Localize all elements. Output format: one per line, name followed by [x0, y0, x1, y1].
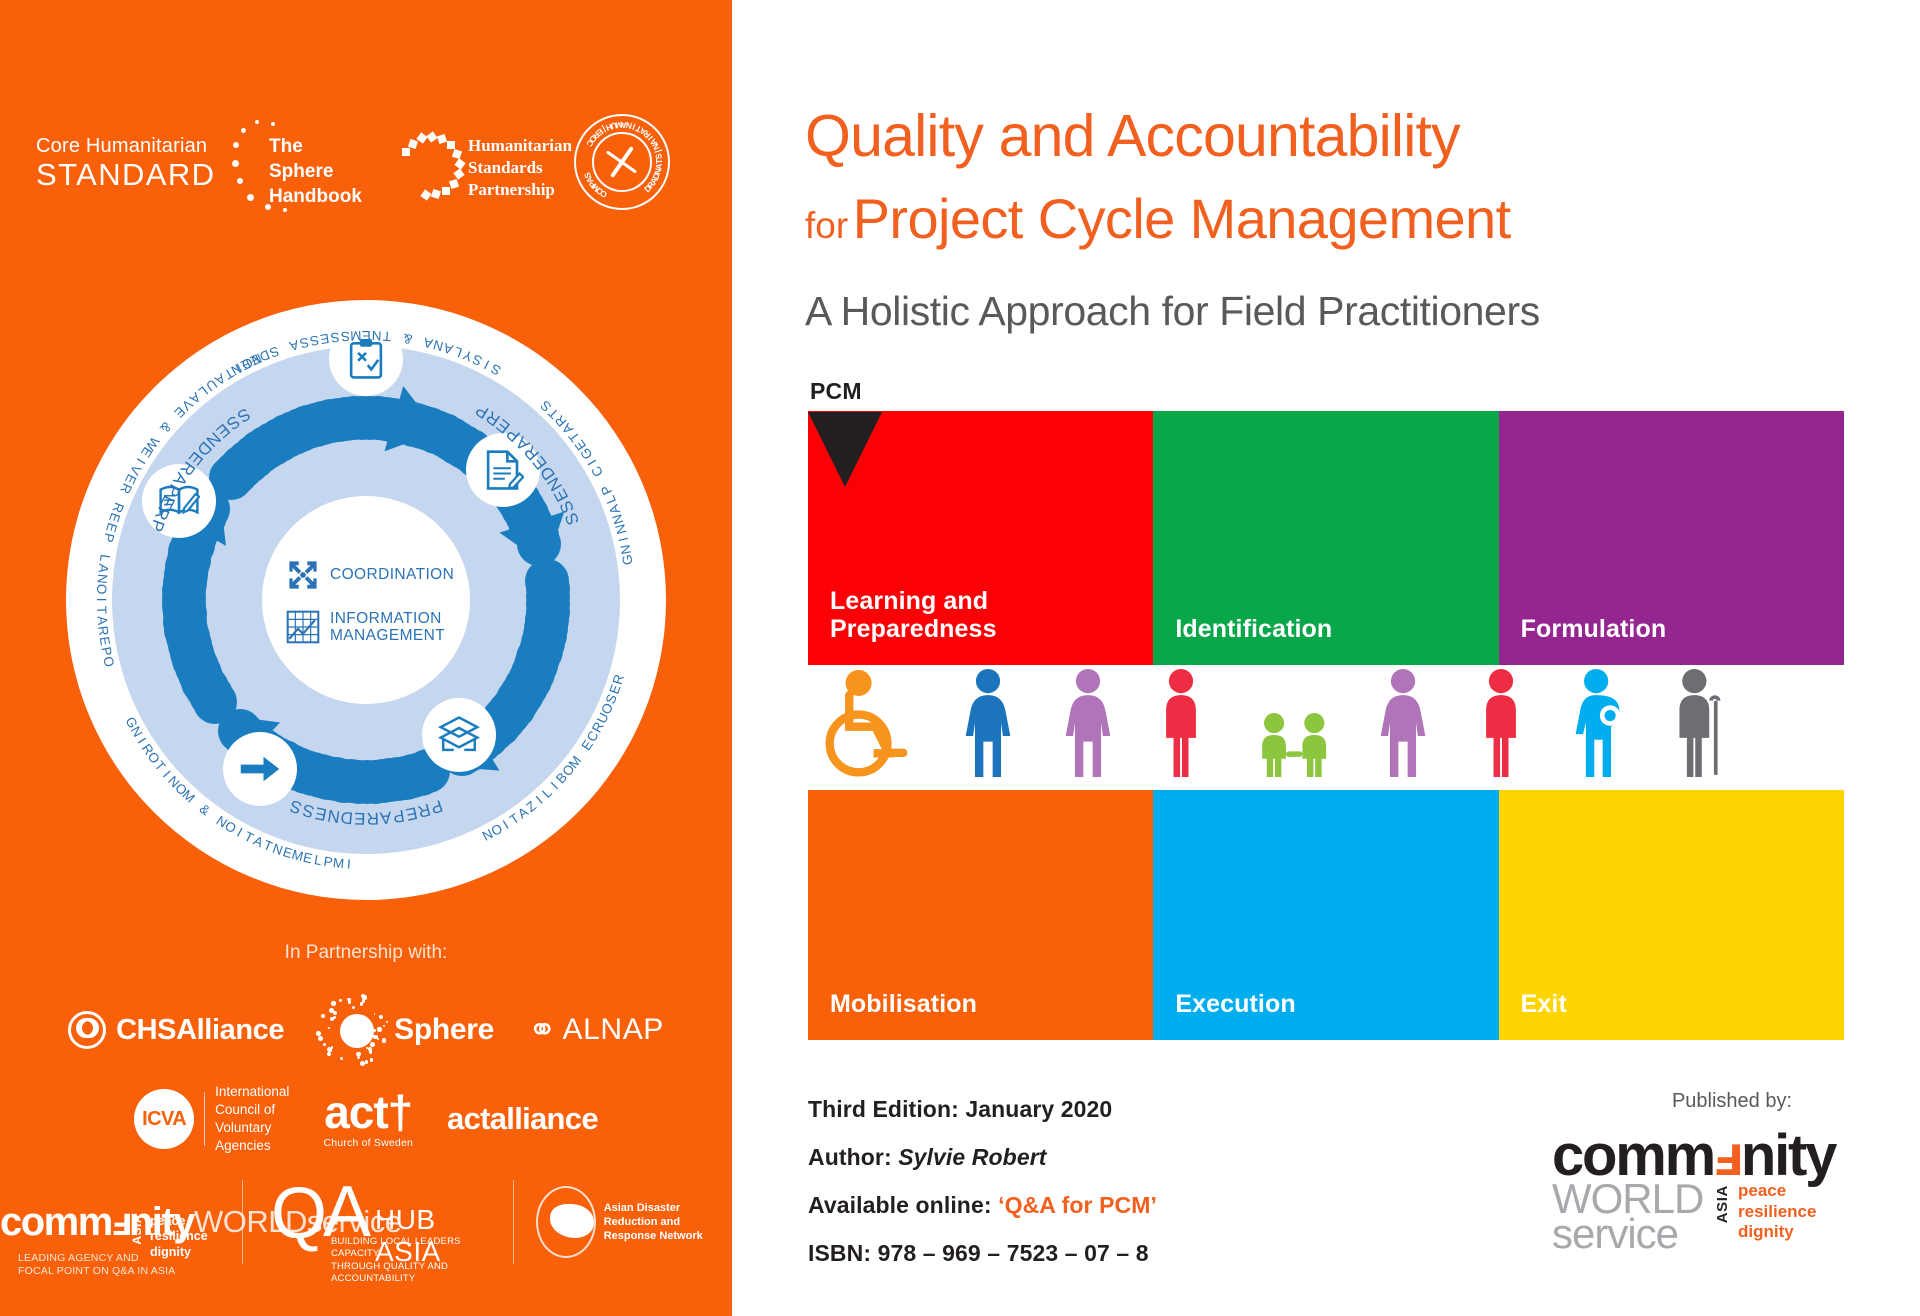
hsp-square [449, 179, 459, 189]
project-cycle-diagram: COORDINATION INFORMATIONMANAGEMENT [66, 300, 666, 900]
sphere-halftone-dot [348, 1000, 352, 1004]
sphere-halftone-dot [374, 1013, 376, 1015]
published-by-label: Published by: [1552, 1090, 1912, 1113]
sphere-halftone-dot [316, 1031, 321, 1036]
hsp-square [431, 189, 441, 199]
left-orange-panel: Core Humanitarian STANDARD The Sphere Ha… [0, 0, 732, 1316]
adrrn-globe-icon [536, 1186, 596, 1258]
sphere-halftone-dot [373, 1029, 376, 1032]
actalliance-logo: actalliance [447, 1101, 598, 1137]
sphere-halftone-dot [373, 1035, 377, 1039]
ring-label-char [394, 330, 400, 345]
compas-logo: CORE|HUMANITARIAN|STANDARDCOMPAS [574, 114, 670, 210]
ring-label-char: R [366, 808, 379, 828]
chsalliance-label: CHSAlliance [116, 1014, 284, 1047]
publisher-line3: service [1552, 1216, 1912, 1252]
chs-line2: STANDARD [36, 159, 215, 190]
sphere-dot [247, 194, 254, 201]
hsp-square [442, 187, 450, 195]
cover-page: Core Humanitarian STANDARD The Sphere Ha… [0, 0, 1920, 1316]
publisher-asia-label: ASIA [1714, 1185, 1731, 1223]
pcm-cell-identification[interactable]: Identification [1153, 411, 1498, 665]
pcm-cell-label: Learning andPreparedness [830, 587, 997, 643]
sphere-halftone-icon [318, 996, 386, 1064]
pcm-bottom-row: MobilisationExecutionExit [808, 790, 1844, 1040]
pcm-cell-label: Mobilisation [830, 990, 977, 1018]
cws-footnote: LEADING AGENCY ANDFOCAL POINT ON Q&A IN … [18, 1252, 176, 1278]
ring-label-char: A [95, 563, 111, 574]
sphere-halftone-dot [352, 1006, 355, 1009]
alnap-mark-icon: ⚭ [528, 1010, 557, 1050]
icva-divider [204, 1092, 205, 1146]
sphere-halftone-dot [321, 1014, 325, 1018]
sphere-halftone-dot [356, 1052, 360, 1056]
sphere-line1: The [269, 134, 362, 159]
qa-q-letter: Q [271, 1178, 327, 1250]
icva-label: InternationalCouncil ofVoluntaryAgencies [215, 1083, 289, 1154]
sphere-halftone-dot [360, 1002, 363, 1005]
pcm-cell-execution[interactable]: Execution [1153, 790, 1498, 1040]
online-label: Available online: [808, 1192, 998, 1218]
ring-label-char: O [94, 584, 109, 596]
ring-label-char: & [402, 331, 414, 347]
partner-row-2: ICVA InternationalCouncil ofVoluntaryAge… [0, 1080, 732, 1158]
hsp-square [416, 133, 427, 144]
partner-row-3: commⅎnity WORLD service ASIA peaceresili… [0, 1172, 732, 1272]
sphere-halftone-dot [323, 1043, 326, 1046]
sphere-halftone-dot [333, 1016, 336, 1019]
pcm-cell-label: Exit [1521, 990, 1567, 1018]
adrrn-label: Asian Disaster Reduction andResponse Net… [604, 1201, 732, 1244]
act-church-of-sweden-logo: act† Church of Sweden [323, 1089, 413, 1149]
chsalliance-logo: CHSAlliance [68, 1011, 284, 1049]
ring-label-char [280, 341, 289, 357]
ring-label-char: D [339, 807, 354, 828]
hsp-line1: Humanitarian [468, 135, 572, 157]
ring-label-char: S [488, 361, 504, 379]
wheelchair-user-icon [818, 669, 914, 782]
ring-label-char: E [353, 808, 365, 828]
sphere-halftone-dot [328, 1027, 330, 1029]
ring-label-char: L [97, 553, 113, 563]
title-for-word: for [805, 205, 848, 246]
sphere-dot [241, 128, 246, 133]
pcm-cell-label: Identification [1175, 615, 1332, 643]
woman-icon [1373, 669, 1433, 782]
hsp-square [408, 138, 418, 148]
sphere-halftone-dot [327, 1052, 331, 1056]
ring-label-char: I [616, 535, 632, 543]
sphere-halftone-dot [386, 1021, 389, 1024]
page-title-line1: Quality and Accountability [805, 105, 1865, 169]
publisher-block: Published by: commⅎnity WORLD service AS… [1552, 1090, 1912, 1245]
act-sublabel: Church of Sweden [323, 1137, 413, 1149]
page-subtitle: A Holistic Approach for Field Practition… [805, 288, 1865, 335]
compas-circular-text: CORE|HUMANITARIAN|STANDARDCOMPAS [574, 114, 670, 210]
sphere-halftone-dot [365, 1060, 369, 1064]
beneficiary-people-row [808, 670, 1844, 782]
woman-icon [1058, 669, 1118, 782]
chsalliance-mark-icon [68, 1011, 106, 1049]
qa-tagline: BUILDING LOCAL LEADERS CAPACITYTHROUGH Q… [331, 1236, 491, 1285]
hsp-text: Humanitarian Standards Partnership [468, 135, 572, 201]
page-title-line2: for Project Cycle Management [805, 190, 1865, 249]
online-link[interactable]: ‘Q&A for PCM’ [998, 1192, 1157, 1218]
ring-label-char: G [619, 553, 635, 566]
ring-label-char: A [379, 807, 393, 828]
ring-label-char: R [95, 625, 111, 637]
right-content-panel: Quality and Accountability for Project C… [732, 0, 1920, 1316]
sphere-dot [271, 122, 275, 126]
pcm-caret-icon [808, 412, 882, 487]
sphere-handbook-logo: The Sphere Handbook [225, 118, 385, 214]
sphere-halftone-dot [382, 1038, 386, 1042]
qa-hub-asia-logo: Q A HUB ASIA BUILDING LOCAL LEADERS CAPA… [265, 1174, 491, 1270]
children-icon [1248, 713, 1344, 782]
ring-label-char: S [329, 329, 340, 345]
sphere-halftone-dot [363, 995, 368, 1000]
pcm-cell-exit[interactable]: Exit [1499, 790, 1844, 1040]
ring-label-char: N [371, 328, 382, 343]
ring-label-char [414, 333, 421, 349]
publisher-line1: commⅎnity [1552, 1129, 1912, 1182]
pregnant-woman-icon [1568, 669, 1628, 782]
sphere-halftone-dot [377, 1038, 379, 1040]
pcm-cell-label: Execution [1175, 990, 1295, 1018]
hsp-line3: Partnership [468, 179, 572, 201]
hsp-square [402, 148, 410, 156]
icva-mark-icon: ICVA [134, 1089, 194, 1149]
alnap-label: ALNAP [563, 1013, 664, 1047]
hsp-line2: Standards [468, 157, 572, 179]
sphere-halftone-dot [331, 1001, 335, 1005]
man-icon [1473, 669, 1529, 782]
author-name: Sylvie Robert [898, 1144, 1046, 1170]
sphere-halftone-dot [370, 1042, 375, 1047]
hsp-arc-icon [398, 122, 464, 210]
sphere-line3: Handbook [269, 184, 362, 209]
sphere-halftone-dot [383, 1025, 385, 1027]
ring-label-char: N [94, 573, 110, 584]
sphere-dot [255, 120, 259, 124]
humanitarian-standards-partnership-logo: Humanitarian Standards Partnership [398, 118, 578, 214]
author-label: Author: [808, 1144, 898, 1170]
sphere-line2: Sphere [269, 159, 362, 184]
sphere-halftone-dot [339, 999, 342, 1002]
act-label: act† [324, 1089, 412, 1135]
partner-divider-2 [513, 1180, 514, 1264]
ring-label-char: M [332, 855, 345, 871]
ring-label-char: T [382, 329, 392, 345]
adrrn-logo: Asian Disaster Reduction andResponse Net… [536, 1172, 732, 1272]
actalliance-label: actalliance [447, 1101, 598, 1137]
ring-label-char: N [612, 522, 629, 536]
partnership-heading: In Partnership with: [0, 942, 732, 964]
icva-logo: ICVA InternationalCouncil ofVoluntaryAge… [134, 1083, 289, 1154]
man-icon [1153, 669, 1209, 782]
sphere-halftone-dot [333, 1011, 338, 1016]
hsp-square [420, 189, 431, 200]
pcm-label: PCM [810, 378, 862, 405]
publisher-logo: commⅎnity WORLD service ASIA peaceresili… [1552, 1129, 1912, 1245]
ring-label-char: A [94, 615, 110, 626]
alnap-logo: ⚭ ALNAP [528, 1010, 664, 1050]
ring-label-char: E [361, 328, 370, 343]
pcm-top-row: Learning andPreparednessIdentificationFo… [808, 411, 1844, 665]
ring-label-char: M [349, 328, 361, 343]
chs-line1: Core Humanitarian [36, 136, 215, 156]
sphere-halftone-dot [318, 1036, 323, 1041]
cws-asia-label: ASIA [130, 1214, 144, 1245]
pcm-cell-mobilisation[interactable]: Mobilisation [808, 790, 1153, 1040]
sphere-dot [232, 160, 239, 167]
ring-label-char [99, 545, 115, 552]
sphere-dot [237, 178, 243, 184]
sphere-partner-logo: Sphere [318, 996, 494, 1064]
standards-logo-strip: Core Humanitarian STANDARD The Sphere Ha… [0, 110, 732, 220]
hsp-square [437, 134, 447, 144]
ring-label-char: I [347, 856, 352, 871]
ring-label-char: L [313, 852, 324, 868]
sphere-halftone-dot [340, 1057, 343, 1060]
sphere-handbook-text: The Sphere Handbook [269, 134, 362, 209]
sphere-halftone-dot [331, 1046, 334, 1049]
sphere-halftone-dot [377, 1027, 382, 1032]
title-main-line2: Project Cycle Management [853, 187, 1511, 250]
sphere-partner-label: Sphere [394, 1013, 494, 1047]
sphere-dot [233, 142, 239, 148]
pcm-cell-label: Formulation [1521, 615, 1667, 643]
core-humanitarian-standard-logo: Core Humanitarian STANDARD [36, 136, 215, 190]
elderly-person-icon [1668, 669, 1730, 782]
community-world-service-asia-logo: commⅎnity WORLD service ASIA peaceresili… [0, 1174, 220, 1270]
ring-label-char: T [94, 606, 109, 615]
publisher-values: peaceresiliencedignity [1738, 1181, 1816, 1243]
hsp-square [452, 149, 462, 159]
sphere-halftone-dot [370, 1058, 373, 1061]
pcm-cell-formulation[interactable]: Formulation [1499, 411, 1844, 665]
ring-label-char: I [94, 598, 109, 602]
cycle-ring-labels: NEEDS ASSESSMENT & ANALYSISSTRATEGIC PLA… [66, 300, 666, 900]
woman-icon [958, 669, 1018, 782]
partner-row-1: CHSAlliance Sphere ⚭ ALNAP [0, 990, 732, 1070]
